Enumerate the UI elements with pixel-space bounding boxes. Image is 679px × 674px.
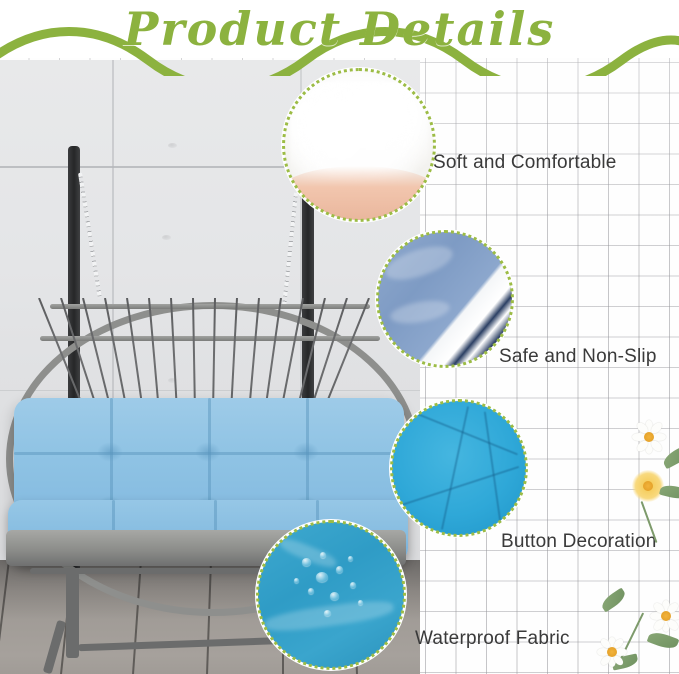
cushion-tuft [195,442,221,462]
callout-image-waterproof-fabric [258,522,404,668]
stand-leg [66,572,79,658]
feature-label-soft-and-comfortable: Soft and Comfortable [433,152,617,174]
water-droplet [348,556,353,561]
water-droplet [350,582,356,588]
wall-mark [168,143,177,148]
callout-image-soft-and-comfortable [284,70,434,220]
cushion-tuft [97,442,123,462]
cushion-tuft [293,442,319,462]
daisy-flower-icon [597,637,627,667]
water-droplet [330,592,339,600]
hand-holding-filling [284,166,434,220]
water-droplet [320,552,326,558]
feature-label-button-decoration: Button Decoration [501,531,657,553]
water-droplet [336,566,343,573]
feature-label-safe-and-non-slip: Safe and Non-Slip [499,346,657,368]
daisy-flower-icon [632,420,666,454]
wall-mark [162,235,171,240]
water-droplet [316,572,328,582]
callout-image-safe-and-non-slip [378,232,512,366]
water-droplet [324,610,331,616]
water-droplet [308,588,314,594]
water-droplet [358,600,363,605]
daisy-flower-icon [650,600,679,632]
water-droplet [302,558,311,566]
tufted-cushion-photo [392,401,526,535]
product-details-infographic: Product Details Soft and Comfortable Saf… [0,0,679,674]
water-droplet [294,578,299,583]
feature-label-waterproof-fabric: Waterproof Fabric [415,628,570,650]
callout-image-button-decoration [392,401,526,535]
yellow-flower-icon [632,470,664,502]
page-title: Product Details [0,2,679,56]
